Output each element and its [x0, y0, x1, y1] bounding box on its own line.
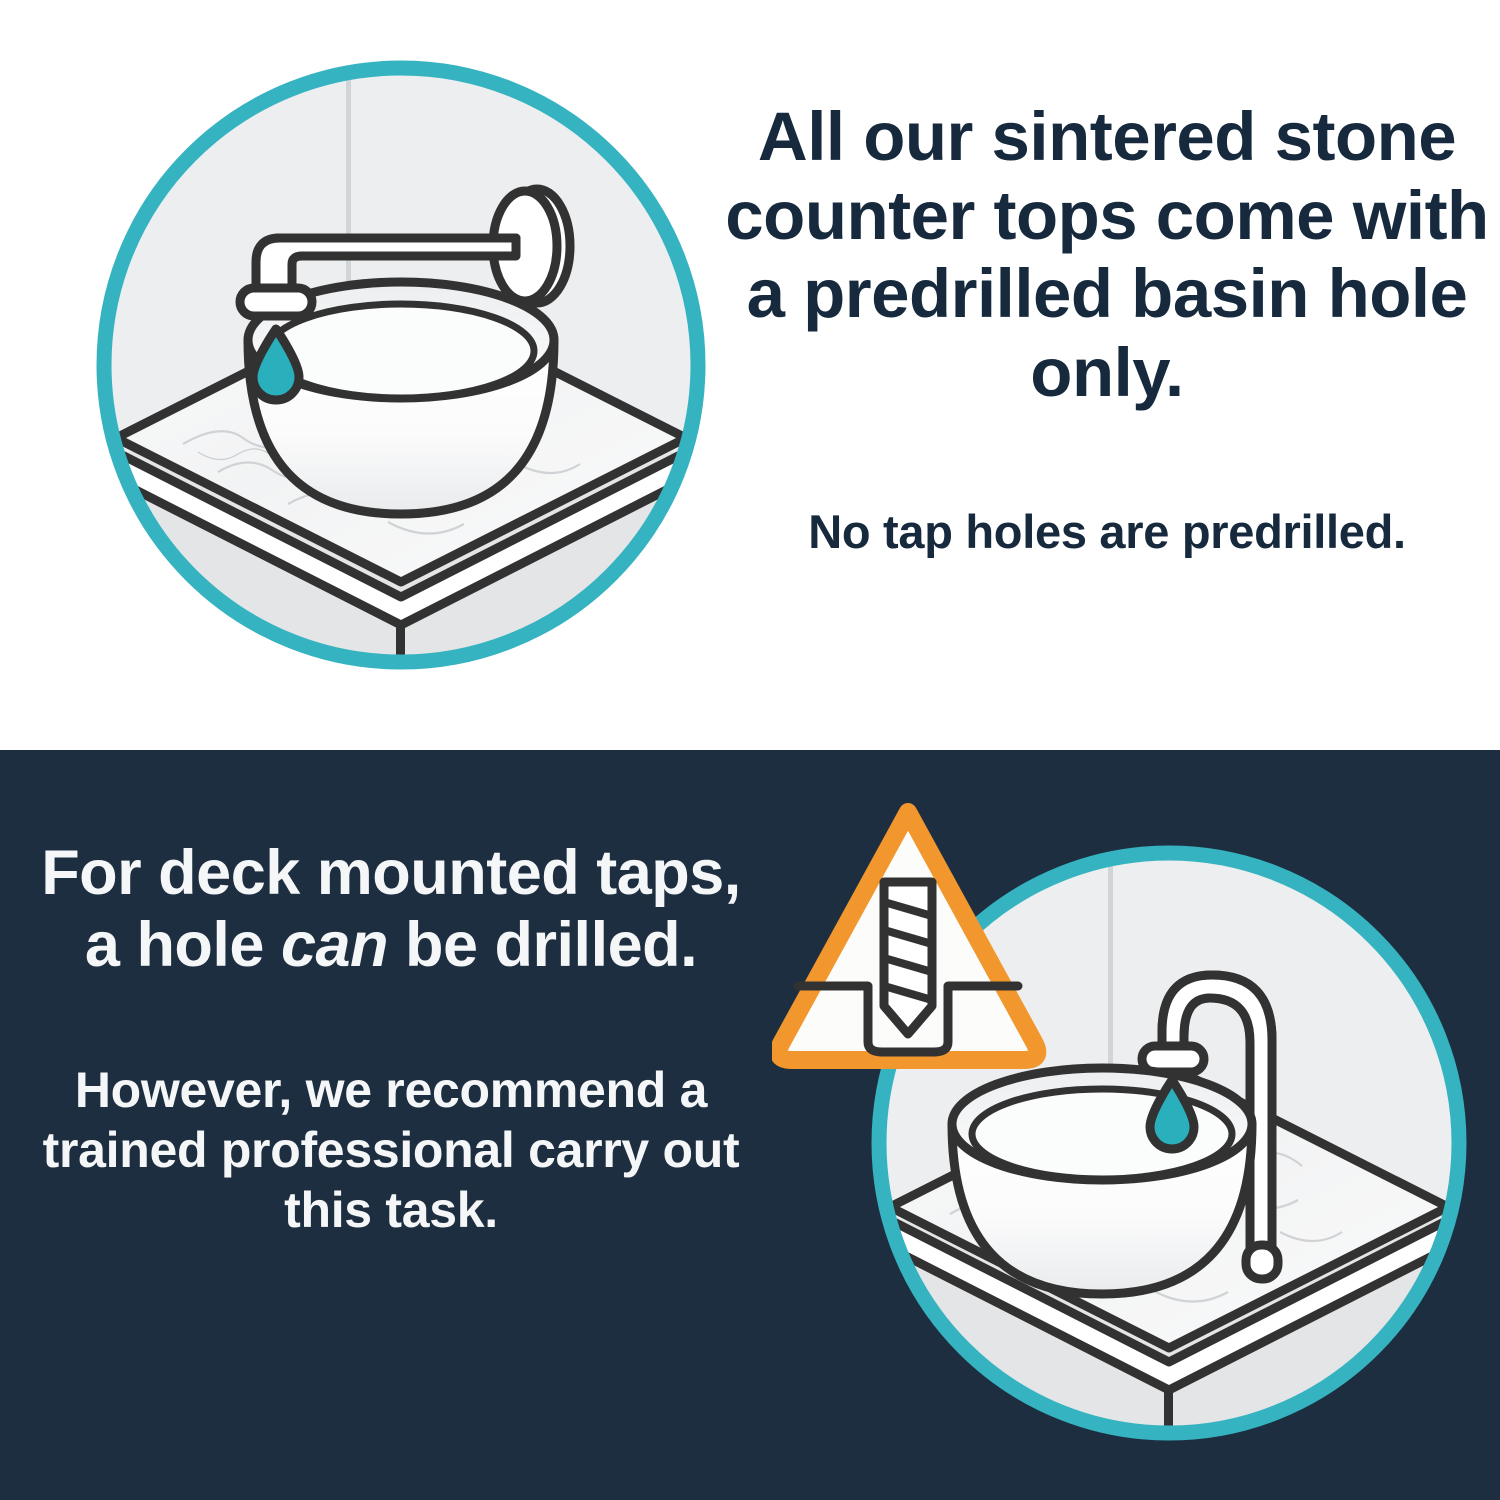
top-headline: All our sintered stone counter tops come… [712, 98, 1500, 413]
infographic-root: All our sintered stone counter tops come… [0, 0, 1500, 1500]
top-text-block: All our sintered stone counter tops come… [712, 98, 1500, 559]
circle-scene-top [88, 52, 714, 678]
bottom-headline-emphasis: can [281, 910, 388, 980]
bottom-headline-part2: be drilled. [388, 910, 697, 980]
illustration-wall-mounted-tap [88, 52, 714, 678]
top-subline: No tap holes are predrilled. [712, 505, 1500, 560]
bottom-text-block: For deck mounted taps, a hole can be dri… [30, 838, 752, 1240]
panel-top: All our sintered stone counter tops come… [0, 0, 1500, 750]
bottom-subline: However, we recommend a trained professi… [30, 1060, 752, 1240]
bottom-headline: For deck mounted taps, a hole can be dri… [30, 838, 752, 982]
basin-bowl-bottom [952, 1068, 1252, 1294]
illustration-deck-mounted-tap [772, 790, 1472, 1450]
